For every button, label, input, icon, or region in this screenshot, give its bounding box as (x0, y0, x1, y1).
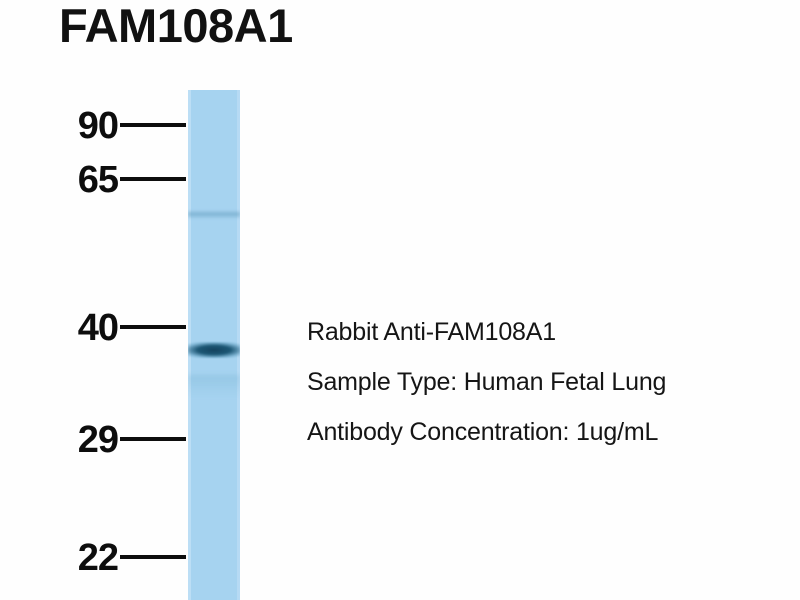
mw-tick-90 (120, 123, 186, 127)
gel-lane (188, 90, 240, 600)
annotation-sample-type: Sample Type: Human Fetal Lung (307, 370, 777, 395)
mw-tick-40 (120, 325, 186, 329)
mw-tick-29 (120, 437, 186, 441)
mw-tick-65 (120, 177, 186, 181)
annotation-antibody-concentration: Antibody Concentration: 1ug/mL (307, 420, 777, 445)
mw-label-65: 65 (78, 161, 118, 199)
mw-label-22: 22 (78, 539, 118, 577)
annotation-block: Rabbit Anti-FAM108A1 Sample Type: Human … (307, 320, 777, 470)
annotation-antibody-name: Rabbit Anti-FAM108A1 (307, 320, 777, 345)
mw-tick-22 (120, 555, 186, 559)
mw-label-29: 29 (78, 421, 118, 459)
protein-band-faint-upper (188, 210, 240, 219)
page-title: FAM108A1 (59, 2, 293, 49)
mw-label-40: 40 (78, 309, 118, 347)
protein-band-main (188, 342, 240, 358)
mw-label-90: 90 (78, 107, 118, 145)
protein-band-smear (188, 375, 240, 397)
western-blot-figure: FAM108A1 90 65 40 29 22 Rabbit Anti-FAM1… (0, 0, 800, 600)
